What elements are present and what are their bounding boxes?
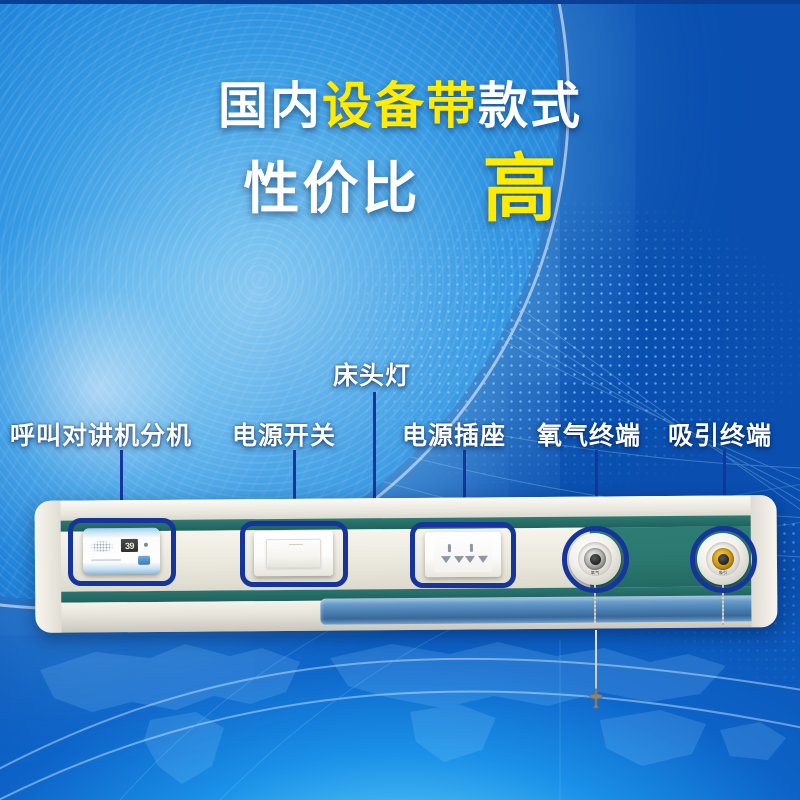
callout-label-oxygen-outlet: 氧气终端: [537, 416, 641, 452]
outlet-pin-slot-2: [470, 544, 473, 552]
pull-cord-handle-icon[interactable]: [586, 688, 606, 710]
intercom-call-button[interactable]: [138, 556, 150, 565]
suction-terminal[interactable]: 吸引: [697, 533, 749, 585]
nurse-call-intercom-unit[interactable]: 39: [83, 528, 160, 575]
intercom-seam: [91, 559, 121, 561]
callout-label-intercom: 呼叫对讲机分机: [10, 416, 192, 452]
oxygen-terminal-marking: 氧气: [591, 570, 600, 576]
intercom-speaker-grille-icon: [90, 540, 114, 553]
power-outlet-face: [434, 537, 492, 572]
intercom-indicator-led: [144, 543, 148, 547]
pull-cord-string[interactable]: [595, 630, 597, 694]
callout-label-suction-outlet: 吸引终端: [668, 416, 772, 452]
power-switch-plate[interactable]: [254, 531, 333, 577]
suction-terminal-port: [718, 554, 729, 565]
callout-layer: 呼叫对讲机分机 电源开关 床头灯 电源插座 氧气终端 吸引终端: [0, 0, 800, 800]
callout-label-power-switch: 电源开关: [232, 416, 336, 452]
outlet-pin-slot-1: [448, 544, 451, 552]
suction-terminal-cord: [722, 585, 724, 625]
power-outlet-plate[interactable]: [425, 532, 501, 578]
panel-end-cap-left: [34, 501, 61, 633]
suction-terminal-marking: 吸引: [719, 570, 728, 576]
intercom-display: 39: [121, 539, 138, 552]
callout-label-bedside-lamp: 床头灯: [333, 356, 411, 392]
bedside-lamp-diffuser: [320, 595, 777, 625]
callout-label-power-outlet: 电源插座: [402, 416, 506, 452]
oxygen-terminal-port: [590, 554, 601, 565]
outlet-pin-slot-5: [465, 556, 475, 563]
outlet-pin-slot-4: [454, 556, 464, 563]
power-switch-rocker[interactable]: [266, 539, 321, 568]
oxygen-terminal-cord: [594, 585, 596, 623]
outlet-pin-slot-6: [478, 556, 488, 563]
panel-end-cap-right: [750, 495, 777, 627]
banner-canvas: 国内设备带款式 性价比 高 呼叫对讲机分机 电源开关 床头灯 电源插座 氧气终端…: [0, 0, 800, 800]
outlet-pin-slot-3: [441, 556, 451, 563]
power-switch-tick-mark: [289, 544, 303, 545]
oxygen-terminal[interactable]: 氧气: [569, 533, 621, 585]
